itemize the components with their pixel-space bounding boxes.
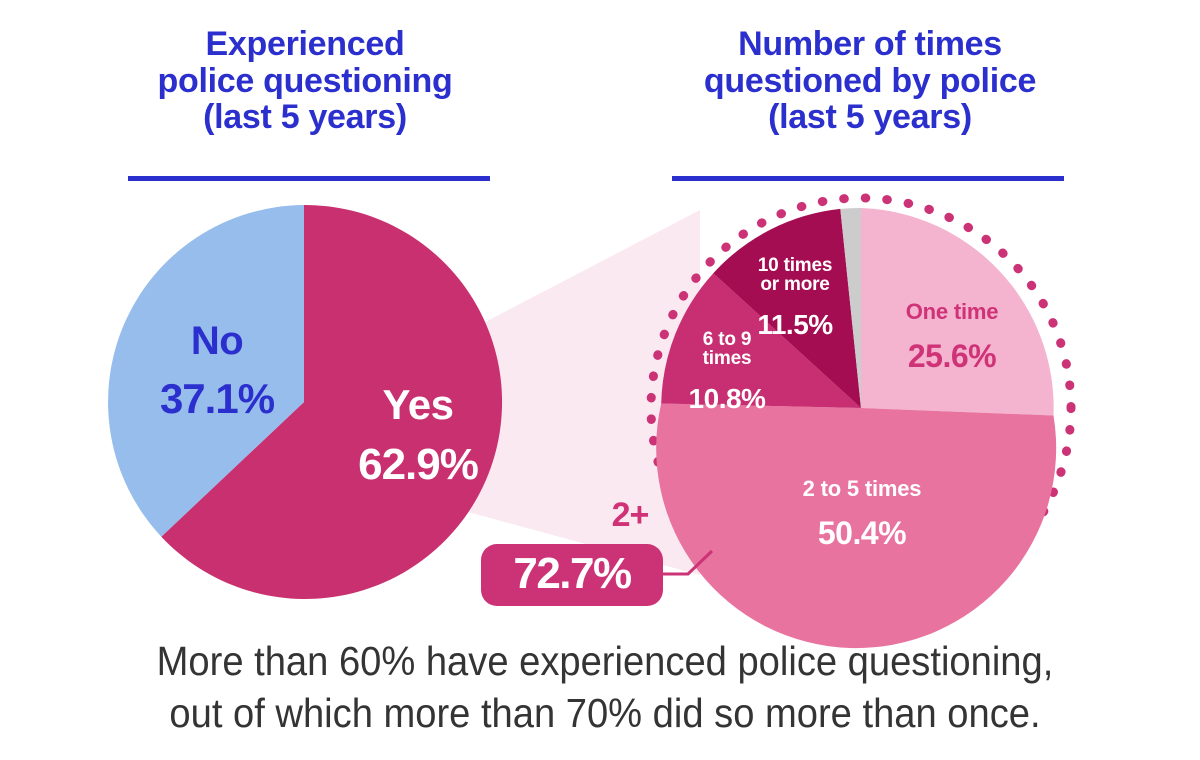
right-pie-slice-two-to-five — [656, 404, 1056, 649]
callout-value-text: 72.7% — [513, 552, 630, 599]
infographic-canvas: Experienced police questioning (last 5 y… — [0, 0, 1200, 760]
right-pie-slice-one-time — [861, 208, 1054, 416]
callout-value-badge: 72.7% — [481, 544, 663, 606]
callout-prefix-label: 2+ — [580, 496, 680, 535]
summary-caption: More than 60% have experienced police qu… — [98, 636, 1112, 739]
